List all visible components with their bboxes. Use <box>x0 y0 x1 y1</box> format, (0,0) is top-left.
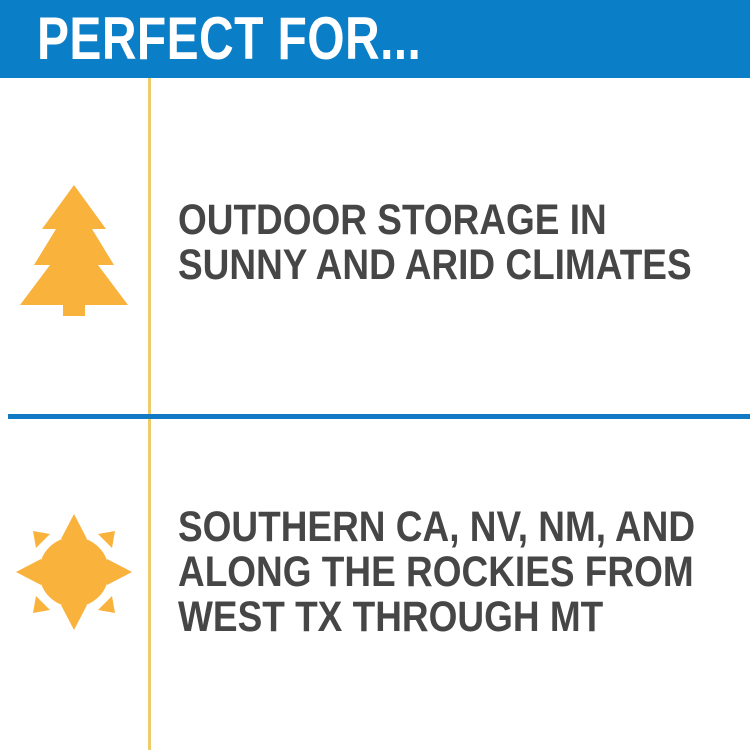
feature-row-outdoor-storage: OUTDOOR STORAGE IN SUNNY AND ARID CLIMAT… <box>0 78 750 414</box>
feature-text-line: SUNNY AND ARID CLIMATES <box>178 243 665 288</box>
perfect-for-infographic: PERFECT FOR... OUTDOOR STORAGE IN SUNNY … <box>0 0 750 750</box>
page-title: PERFECT FOR... <box>37 7 421 71</box>
feature-text-line: OUTDOOR STORAGE IN <box>178 198 665 243</box>
feature-text-regions: SOUTHERN CA, NV, NM, AND ALONG THE ROCKI… <box>178 505 665 640</box>
feature-text-outdoor-storage: OUTDOOR STORAGE IN SUNNY AND ARID CLIMAT… <box>178 198 665 288</box>
header-banner: PERFECT FOR... <box>0 0 750 78</box>
feature-text-line: SOUTHERN CA, NV, NM, AND <box>178 505 665 550</box>
sun-icon-container <box>0 509 148 634</box>
evergreen-tree-icon <box>18 183 130 317</box>
feature-text-line: ALONG THE ROCKIES FROM <box>178 550 665 595</box>
sun-icon <box>16 514 132 630</box>
evergreen-tree-icon-container <box>0 180 148 320</box>
feature-text-line: WEST TX THROUGH MT <box>178 595 665 640</box>
feature-row-regions: SOUTHERN CA, NV, NM, AND ALONG THE ROCKI… <box>0 419 750 750</box>
